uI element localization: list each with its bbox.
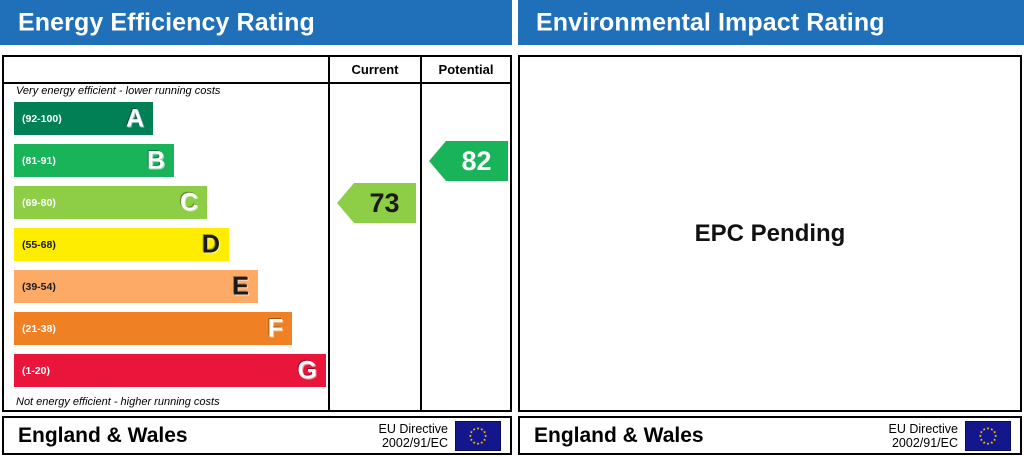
footer-directive-line2-right: 2002/91/EC: [889, 436, 958, 450]
rating-band-e: (39-54) E: [14, 270, 258, 303]
rating-band-f: (21-38) F: [14, 312, 292, 345]
environmental-footer: England & Wales EU Directive 2002/91/EC: [518, 416, 1022, 455]
energy-footer: England & Wales EU Directive 2002/91/EC: [2, 416, 512, 455]
footer-directive-line2: 2002/91/EC: [379, 436, 448, 450]
band-d-letter: D: [202, 232, 220, 257]
band-a-range: (92-100): [22, 113, 62, 125]
band-e-letter: E: [232, 274, 249, 299]
current-column-header: Current: [330, 57, 420, 82]
epc-certificate: Energy Efficiency Rating Environmental I…: [0, 0, 1024, 457]
energy-efficiency-header: Energy Efficiency Rating: [0, 0, 512, 45]
epc-pending-message: EPC Pending: [520, 220, 1020, 248]
rating-bands-chart: Very energy efficient - lower running co…: [4, 84, 328, 410]
band-e-range: (39-54): [22, 281, 56, 293]
footer-region-label-right: England & Wales: [534, 424, 704, 448]
band-a-letter: A: [126, 106, 144, 131]
environmental-impact-title: Environmental Impact Rating: [536, 8, 885, 37]
potential-column-divider: [420, 57, 422, 410]
footer-directive-line1-right: EU Directive: [889, 422, 958, 436]
eu-flag-icon-right: [965, 421, 1011, 451]
rating-band-c: (69-80) C: [14, 186, 207, 219]
potential-column-header: Potential: [422, 57, 510, 82]
rating-band-b: (81-91) B: [14, 144, 174, 177]
rating-band-d: (55-68) D: [14, 228, 229, 261]
band-f-letter: F: [268, 316, 283, 341]
eu-flag-icon: [455, 421, 501, 451]
footer-directive-line1: EU Directive: [379, 422, 448, 436]
footer-region-label: England & Wales: [18, 424, 188, 448]
environmental-impact-header: Environmental Impact Rating: [518, 0, 1024, 45]
band-d-range: (55-68): [22, 239, 56, 251]
energy-efficiency-title: Energy Efficiency Rating: [18, 8, 315, 37]
current-column-divider: [328, 57, 330, 410]
footer-directive-text-right: EU Directive 2002/91/EC: [889, 422, 958, 450]
band-b-range: (81-91): [22, 155, 56, 167]
caption-efficient: Very energy efficient - lower running co…: [16, 85, 220, 97]
environmental-impact-panel: EPC Pending: [518, 55, 1022, 412]
band-g-range: (1-20): [22, 365, 50, 377]
current-rating-arrow: 73: [337, 183, 416, 223]
band-g-letter: G: [298, 358, 317, 383]
rating-band-g: (1-20) G: [14, 354, 326, 387]
band-c-letter: C: [180, 190, 198, 215]
band-f-range: (21-38): [22, 323, 56, 335]
band-c-range: (69-80): [22, 197, 56, 209]
band-b-letter: B: [147, 148, 165, 173]
potential-rating-arrow: 82: [429, 141, 508, 181]
caption-inefficient: Not energy efficient - higher running co…: [16, 396, 220, 408]
rating-band-a: (92-100) A: [14, 102, 153, 135]
footer-directive-text: EU Directive 2002/91/EC: [379, 422, 448, 450]
energy-efficiency-panel: Current Potential Very energy efficient …: [2, 55, 512, 412]
